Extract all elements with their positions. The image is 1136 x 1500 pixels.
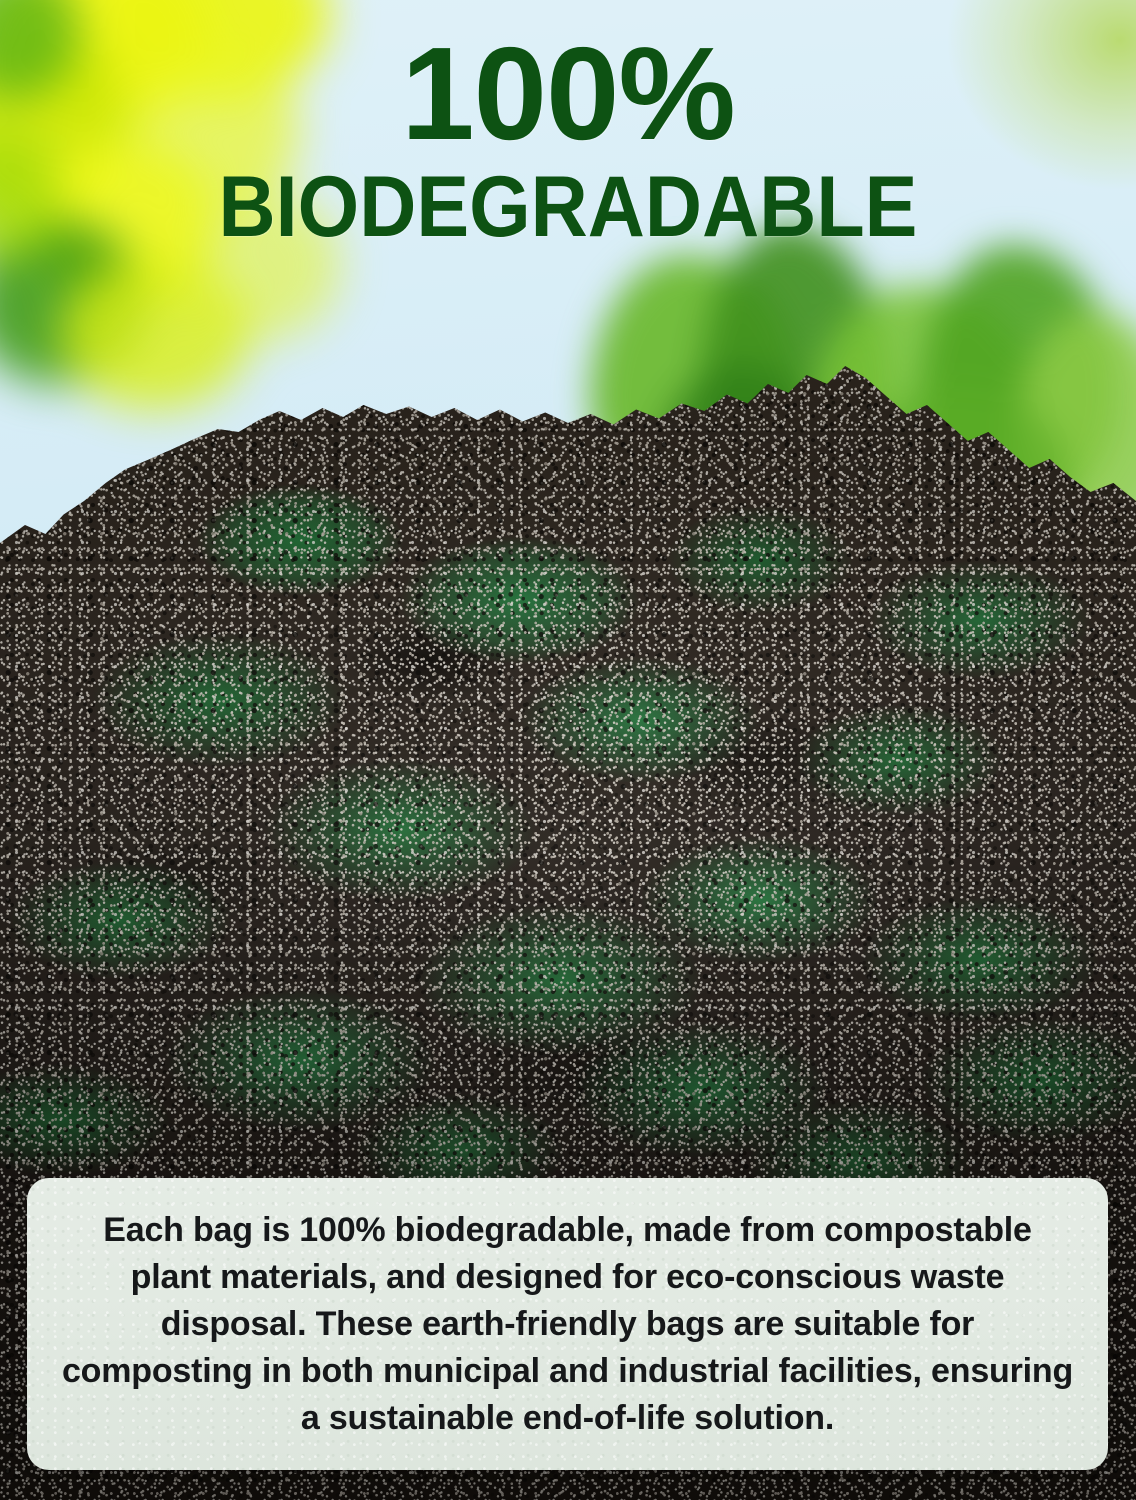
info-panel: Each bag is 100% biodegradable, made fro…: [27, 1178, 1108, 1470]
info-panel-body-text: Each bag is 100% biodegradable, made fro…: [27, 1207, 1108, 1442]
product-infographic: 100% BIODEGRADABLE Each bag is 100% biod…: [0, 0, 1136, 1500]
